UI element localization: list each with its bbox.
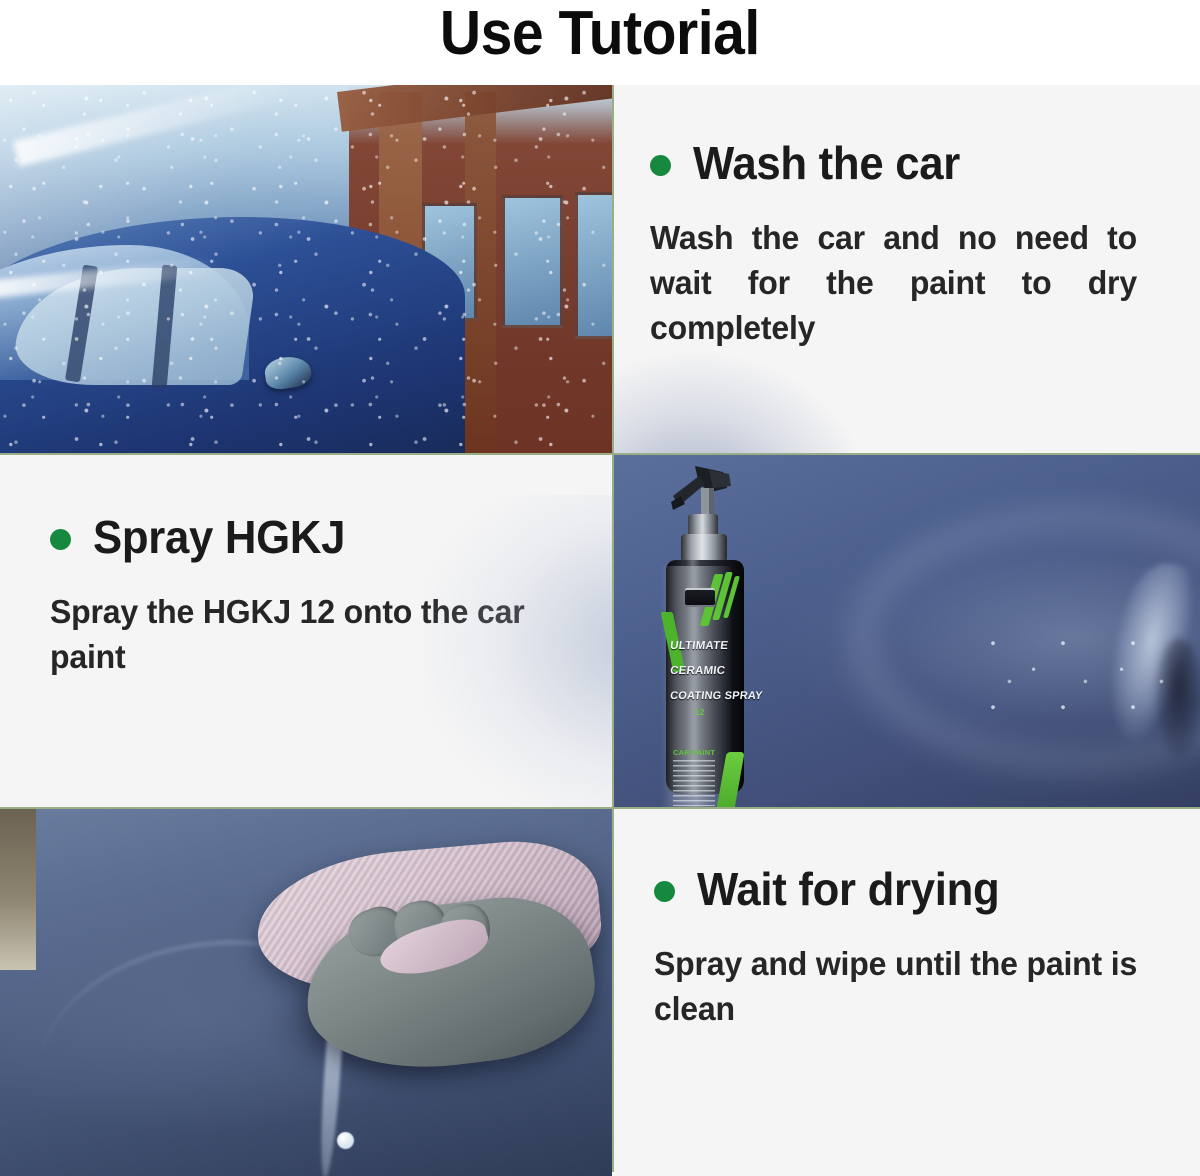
photo-product-bottle: ULTIMATE CERAMIC COATING SPRAY 12 CAR PA… [614,455,1200,807]
title-bar: Use Tutorial [0,0,1200,85]
label-fine-print [673,760,715,806]
step-heading: Spray HGKJ [93,511,345,563]
step-heading: Wash the car [693,137,960,189]
step-description: Spray the HGKJ 12 onto the car paint [50,589,547,724]
water-spray-mist [0,85,612,453]
water-droplet [337,1132,354,1149]
label-badge: 12 [695,708,705,717]
brand-logo-badge [685,588,715,607]
page-title: Use Tutorial [440,0,760,68]
bottle-scene: ULTIMATE CERAMIC COATING SPRAY 12 CAR PA… [614,455,1200,807]
photo-car-wash [0,85,612,453]
step-panel-spray: Spray HGKJ Spray the HGKJ 12 onto the ca… [0,455,612,807]
label-claim: CAR PAINT [673,748,715,757]
step-heading-row: Wash the car [650,137,1152,189]
step-panel-dry: Wait for drying Spray and wipe until the… [614,809,1200,1176]
water-droplets [979,624,1173,730]
step-heading-row: Spray HGKJ [50,511,562,563]
bullet-dot-icon [650,155,671,176]
spray-bottle: ULTIMATE CERAMIC COATING SPRAY 12 CAR PA… [661,462,749,800]
label-line-3: COATING SPRAY [669,690,735,703]
road-edge [0,809,36,970]
step-description: Spray and wipe until the paint is clean [654,941,1137,1076]
step-description: Wash the car and no need to wait for the… [650,215,1137,395]
bullet-dot-icon [654,881,675,902]
bullet-dot-icon [50,529,71,550]
tutorial-grid: Wash the car Wash the car and no need to… [0,85,1200,1172]
step-heading: Wait for drying [697,863,999,915]
bottle-collar [681,534,727,562]
photo-towel-wipe [0,809,612,1176]
step-panel-wash: Wash the car Wash the car and no need to… [614,85,1200,453]
step-heading-row: Wait for drying [654,863,1152,915]
wipe-scene [0,809,612,1176]
car-wash-scene [0,85,612,453]
label-line-2: CERAMIC [669,665,735,678]
label-line-1: ULTIMATE [669,640,735,653]
